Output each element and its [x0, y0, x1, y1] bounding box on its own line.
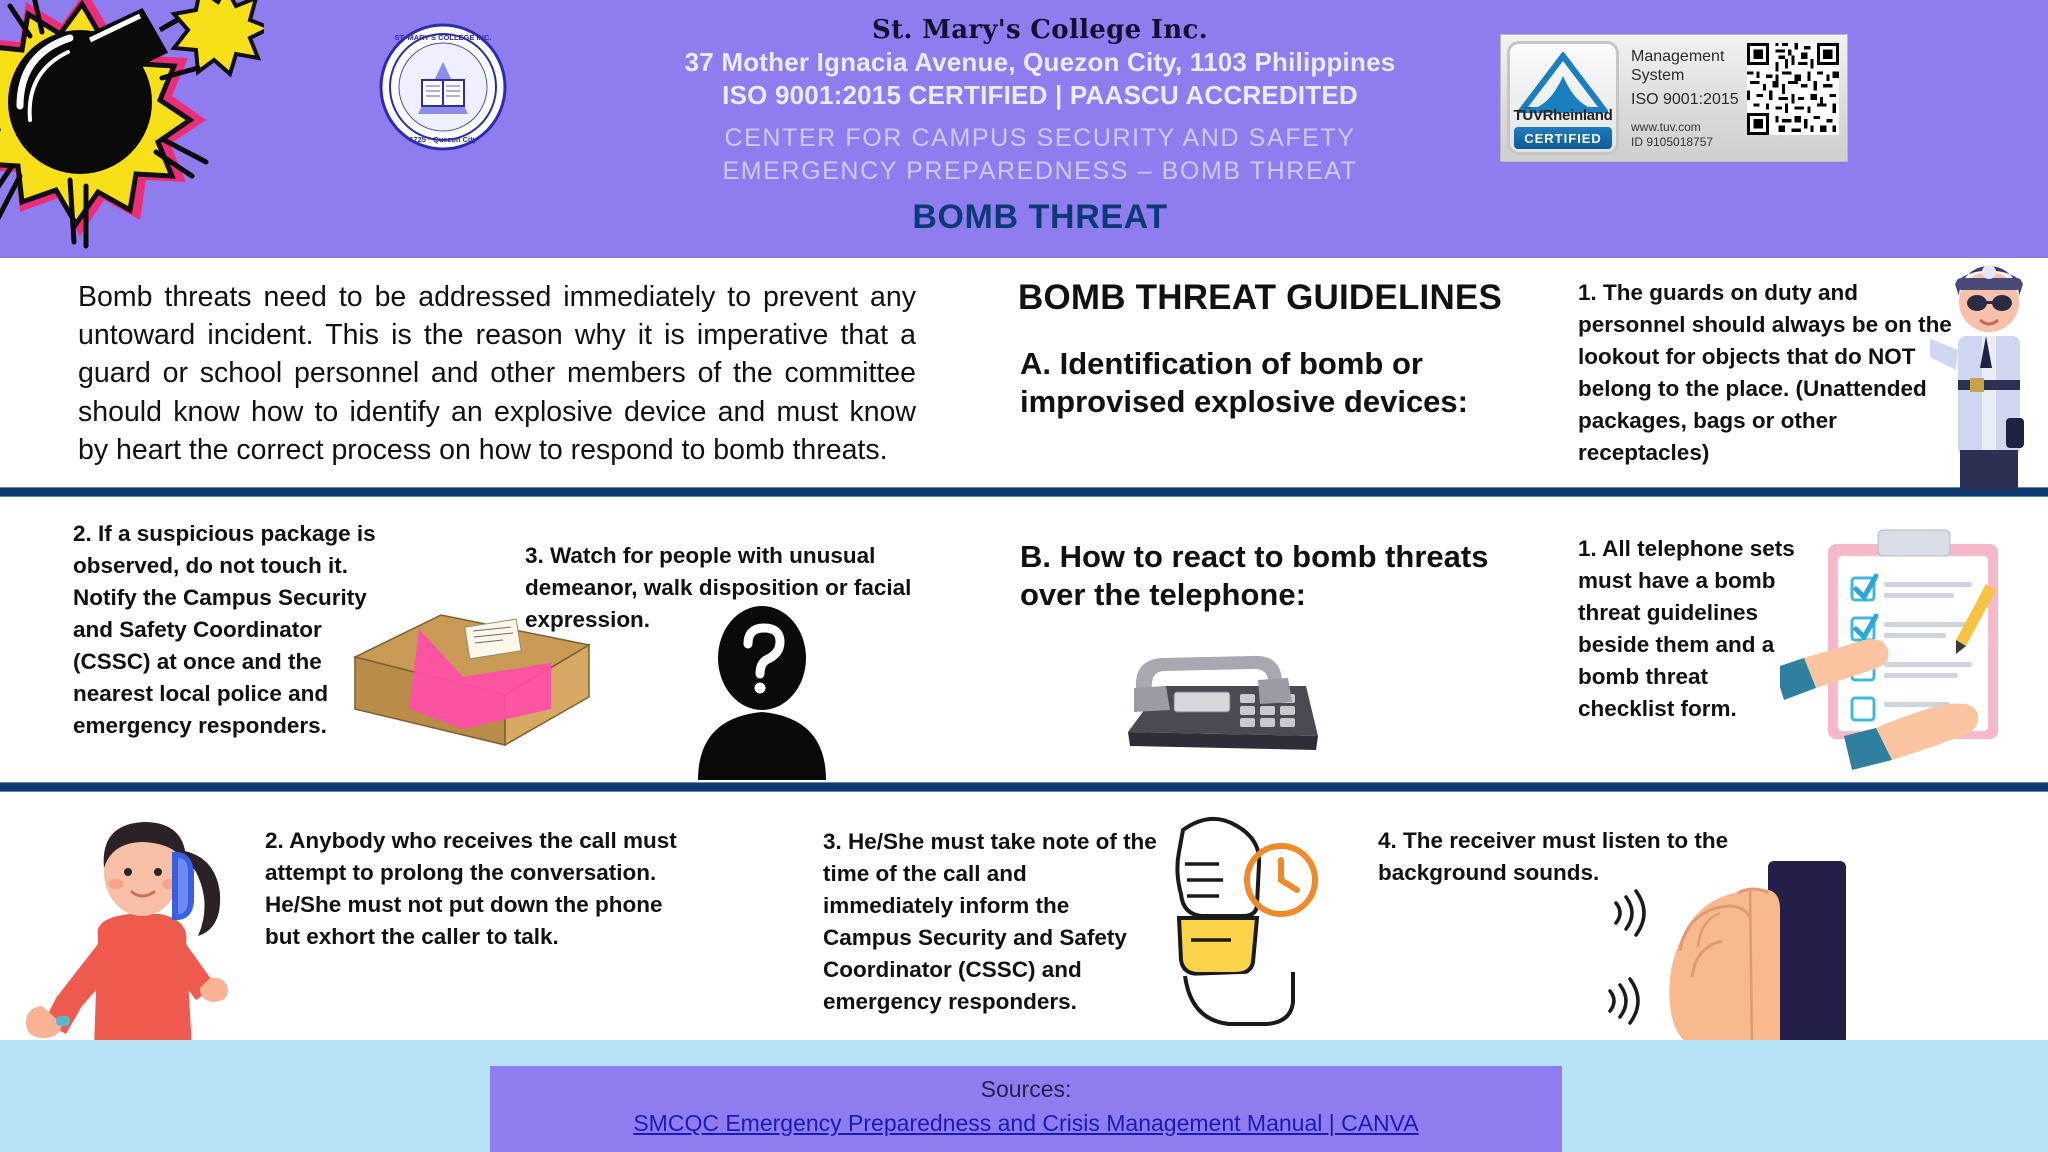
security-guard-icon	[1930, 250, 2048, 490]
tuv-rheinland-badge: TÜVRheinland CERTIFIED Management System…	[1500, 34, 1848, 162]
section-divider-1	[0, 487, 2048, 497]
bomb-threat-checklist-icon	[1780, 522, 2045, 772]
section-a-heading: A. Identification of bomb or improvised …	[1020, 345, 1490, 421]
tuv-id: ID 9105018757	[1631, 135, 1713, 151]
qr-code-icon	[1747, 43, 1839, 135]
topic-line: EMERGENCY PREPAREDNESS – BOMB THREAT	[560, 155, 1520, 188]
tuv-details: Management System ISO 9001:2015 www.tuv.…	[1619, 41, 1747, 155]
page-title: BOMB THREAT	[560, 198, 1520, 237]
time-of-call-icon	[1165, 812, 1325, 1032]
center-line: CENTER FOR CAMPUS SECURITY AND SAFETY	[560, 122, 1520, 155]
svg-text:ST. MARY'S COLLEGE INC.: ST. MARY'S COLLEGE INC.	[395, 33, 492, 42]
tuv-ms-line2: System	[1631, 66, 1739, 85]
school-seal-logo: ST. MARY'S COLLEGE INC. 1725 * Quezon Ci…	[378, 22, 508, 152]
sources-link[interactable]: SMCQC Emergency Preparedness and Crisis …	[490, 1110, 1562, 1137]
tuv-url-and-id: www.tuv.com ID 9105018757	[1631, 120, 1713, 151]
sources-box: Sources: SMCQC Emergency Preparedness an…	[490, 1066, 1562, 1152]
tuv-iso-standard: ISO 9001:2015	[1631, 91, 1739, 109]
school-name: St. Mary's College Inc.	[560, 16, 1520, 46]
school-certification: ISO 9001:2015 CERTIFIED | PAASCU ACCREDI…	[560, 79, 1520, 112]
telephone-icon	[1110, 640, 1325, 760]
tuv-ms-line1: Management	[1631, 47, 1739, 66]
school-address: 37 Mother Ignacia Avenue, Quezon City, 1…	[560, 46, 1520, 79]
guidelines-heading: BOMB THREAT GUIDELINES	[1000, 278, 1520, 318]
svg-text:1725 * Quezon City: 1725 * Quezon City	[409, 135, 477, 144]
tuv-logo: TÜVRheinland CERTIFIED	[1507, 41, 1619, 155]
guideline-a-item-1: 1. The guards on duty and personnel shou…	[1578, 277, 1958, 469]
listen-background-sounds-icon	[1600, 855, 1850, 1055]
guideline-b-item-3: 3. He/She must take note of the time of …	[823, 826, 1163, 1018]
tuv-url: www.tuv.com	[1631, 120, 1713, 136]
tuv-certified-label: CERTIFIED	[1514, 127, 1612, 149]
guideline-b-item-1: 1. All telephone sets must have a bomb t…	[1578, 533, 1803, 725]
guideline-b-item-2: 2. Anybody who receives the call must at…	[265, 825, 685, 953]
tuv-brand: TÜVRheinland	[1510, 107, 1616, 124]
section-b-heading: B. How to react to bomb threats over the…	[1020, 538, 1490, 614]
header-banner: ST. MARY'S COLLEGE INC. 1725 * Quezon Ci…	[0, 0, 2048, 258]
tuv-triangle-icon	[1518, 52, 1608, 114]
sources-label: Sources:	[490, 1076, 1562, 1103]
bomb-explosion-icon	[0, 0, 264, 250]
intro-paragraph: Bomb threats need to be addressed immedi…	[78, 278, 916, 469]
unknown-person-icon	[690, 600, 835, 780]
header-text-block: St. Mary's College Inc. 37 Mother Ignaci…	[560, 16, 1520, 187]
section-divider-2	[0, 782, 2048, 792]
